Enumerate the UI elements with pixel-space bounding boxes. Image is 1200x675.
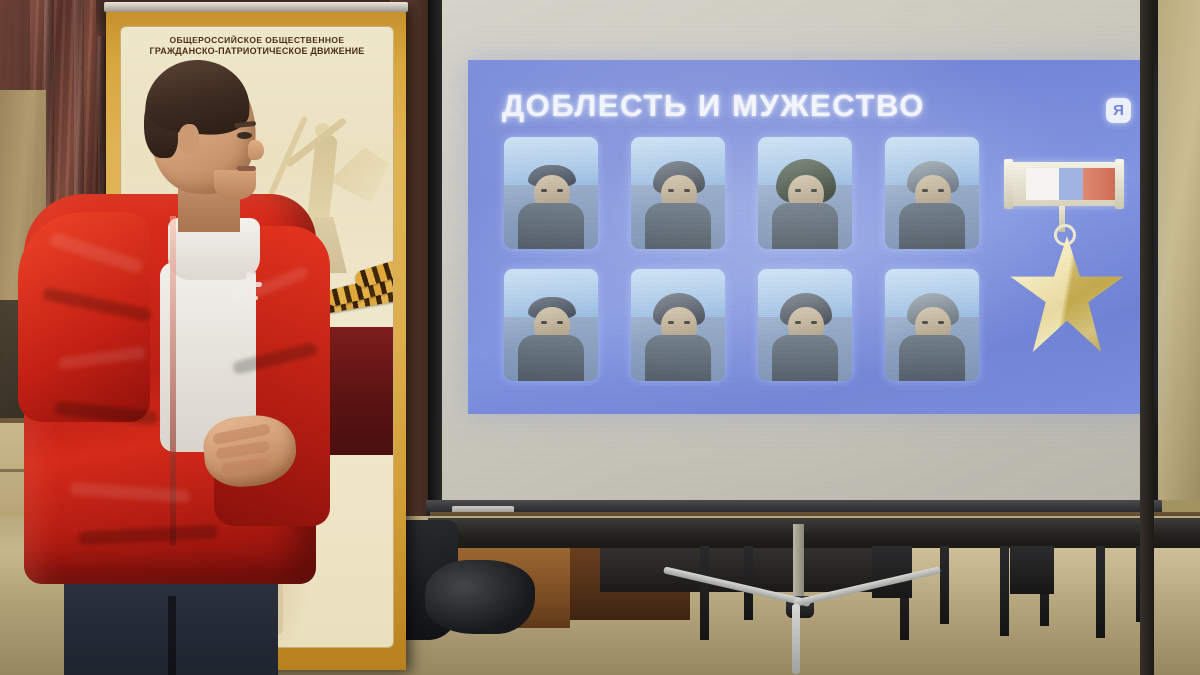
chair-leg <box>1000 546 1009 636</box>
presenter-mouth <box>237 166 256 171</box>
chair-back <box>872 546 912 598</box>
slide-title: ДОБЛЕСТЬ И МУЖЕСТВО <box>502 88 925 124</box>
chair-leg <box>700 546 709 640</box>
screen-left-edge <box>428 0 442 524</box>
banner-header: ОБЩЕРОССИЙСКОЕ ОБЩЕСТВЕННОЕ ГРАЖДАНСКО-П… <box>121 35 393 57</box>
portrait-tile-4 <box>885 137 979 249</box>
photo-scene: ДОБЛЕСТЬ И МУЖЕСТВО Я <box>0 0 1200 675</box>
right-wall-panel <box>1154 0 1200 500</box>
tripod-leg-front <box>792 604 800 674</box>
chair-leg <box>940 546 949 624</box>
stage-edge <box>428 518 1200 548</box>
presenter-nose <box>248 140 264 160</box>
chair-back <box>1010 546 1054 594</box>
gold-star-medal <box>996 162 1142 362</box>
right-wall-edge <box>1140 0 1154 675</box>
portrait-tile-8 <box>885 269 979 381</box>
presenter-ear <box>178 124 199 154</box>
portrait-tile-5 <box>504 269 598 381</box>
movement-logo-glyph: Я <box>1112 102 1125 119</box>
banner-header-line1: ОБЩЕРОССИЙСКОЕ ОБЩЕСТВЕННОЕ <box>121 35 393 46</box>
portrait-tile-6 <box>631 269 725 381</box>
presenter-chin <box>214 170 256 200</box>
portrait-tile-1 <box>504 137 598 249</box>
portrait-tile-3 <box>758 137 852 249</box>
chair-leg <box>1096 546 1105 638</box>
medal-ribbon-bar <box>1006 162 1122 206</box>
portrait-grid <box>504 137 978 399</box>
portrait-tile-7 <box>758 269 852 381</box>
banner-top-rail <box>104 2 408 12</box>
tripod-post <box>793 524 804 604</box>
banner-header-line2: ГРАЖДАНСКО-ПАТРИОТИЧЕСКОЕ ДВИЖЕНИЕ <box>121 46 393 57</box>
presenter-eye <box>237 132 252 139</box>
chair-leg <box>744 546 753 620</box>
backpack <box>425 560 535 634</box>
portrait-tile-2 <box>631 137 725 249</box>
jacket-sleeve-emblem <box>236 272 262 310</box>
presenter <box>18 66 338 675</box>
